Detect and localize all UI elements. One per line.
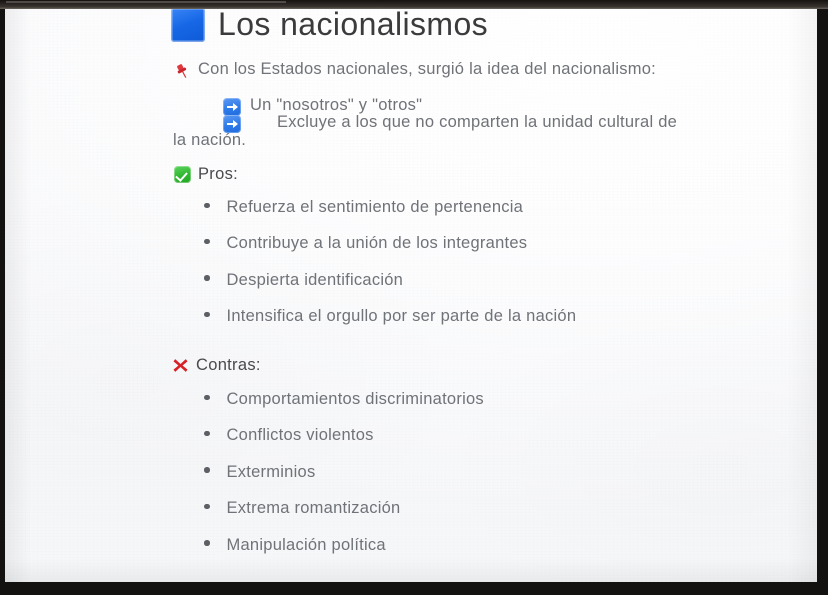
- intro-text: Con los Estados nacionales, surgió la id…: [198, 60, 656, 79]
- list-item: Conflictos violentos: [204, 426, 484, 462]
- list-item-label: Refuerza el sentimiento de pertenencia: [227, 198, 524, 217]
- section-label-contras: Contras:: [196, 356, 261, 375]
- list-item-label: Intensifica el orgullo por ser parte de …: [227, 307, 577, 326]
- bullet-dot-icon: [204, 540, 210, 546]
- bullet-dot-icon: [204, 239, 210, 245]
- list-item-label: Manipulación política: [227, 536, 386, 555]
- list-item-label: Despierta identificación: [227, 271, 404, 290]
- blue-square-icon: [171, 9, 205, 42]
- list-item-label: Contribuye a la unión de los integrantes: [227, 234, 528, 253]
- green-check-icon: [174, 166, 191, 183]
- list-item: Comportamientos discriminatorios: [204, 390, 484, 426]
- bullet-dot-icon: [204, 203, 210, 209]
- list-item-label: Conflictos violentos: [227, 426, 374, 445]
- list-item: Refuerza el sentimiento de pertenencia: [204, 198, 576, 234]
- list-item-label: Extrema romantización: [227, 499, 401, 518]
- bullet-dot-icon: [204, 467, 210, 473]
- photo-frame: Los nacionalismos Con los Estados nacion…: [0, 0, 828, 595]
- bullet-dot-icon: [204, 504, 210, 510]
- pushpin-icon: [175, 63, 190, 80]
- section-label-pros: Pros:: [198, 165, 238, 184]
- pros-list: Refuerza el sentimiento de pertenencia C…: [204, 198, 576, 344]
- sub-item-2-text: Excluye a los que no comparten la unidad…: [277, 113, 677, 132]
- list-item: Manipulación política: [204, 536, 484, 572]
- window-chrome-strip: [0, 0, 828, 9]
- red-cross-icon: [172, 357, 189, 374]
- list-item: Intensifica el orgullo por ser parte de …: [204, 307, 576, 343]
- page-title: Los nacionalismos: [218, 9, 488, 43]
- section-header-pros: Pros:: [174, 165, 238, 184]
- sub-item-2-wrap-text: la nación.: [173, 131, 246, 150]
- slide-content: Los nacionalismos Con los Estados nacion…: [5, 9, 817, 582]
- intro-line: Con los Estados nacionales, surgió la id…: [175, 60, 656, 80]
- section-header-contras: Contras:: [172, 356, 261, 375]
- list-item: Contribuye a la unión de los integrantes: [204, 234, 576, 270]
- list-item: Extrema romantización: [204, 499, 484, 535]
- slide-title-row: Los nacionalismos: [171, 9, 488, 43]
- bullet-dot-icon: [204, 431, 210, 437]
- list-item-label: Exterminios: [227, 463, 316, 482]
- presentation-slide: Los nacionalismos Con los Estados nacion…: [5, 9, 817, 582]
- contras-list: Comportamientos discriminatorios Conflic…: [204, 390, 484, 572]
- sub-item-2: Excluye a los que no comparten la unidad…: [223, 113, 677, 133]
- bullet-dot-icon: [204, 312, 210, 318]
- list-item-label: Comportamientos discriminatorios: [227, 390, 484, 409]
- bullet-dot-icon: [204, 395, 210, 401]
- list-item: Despierta identificación: [204, 271, 576, 307]
- bullet-dot-icon: [204, 275, 210, 281]
- list-item: Exterminios: [204, 463, 484, 499]
